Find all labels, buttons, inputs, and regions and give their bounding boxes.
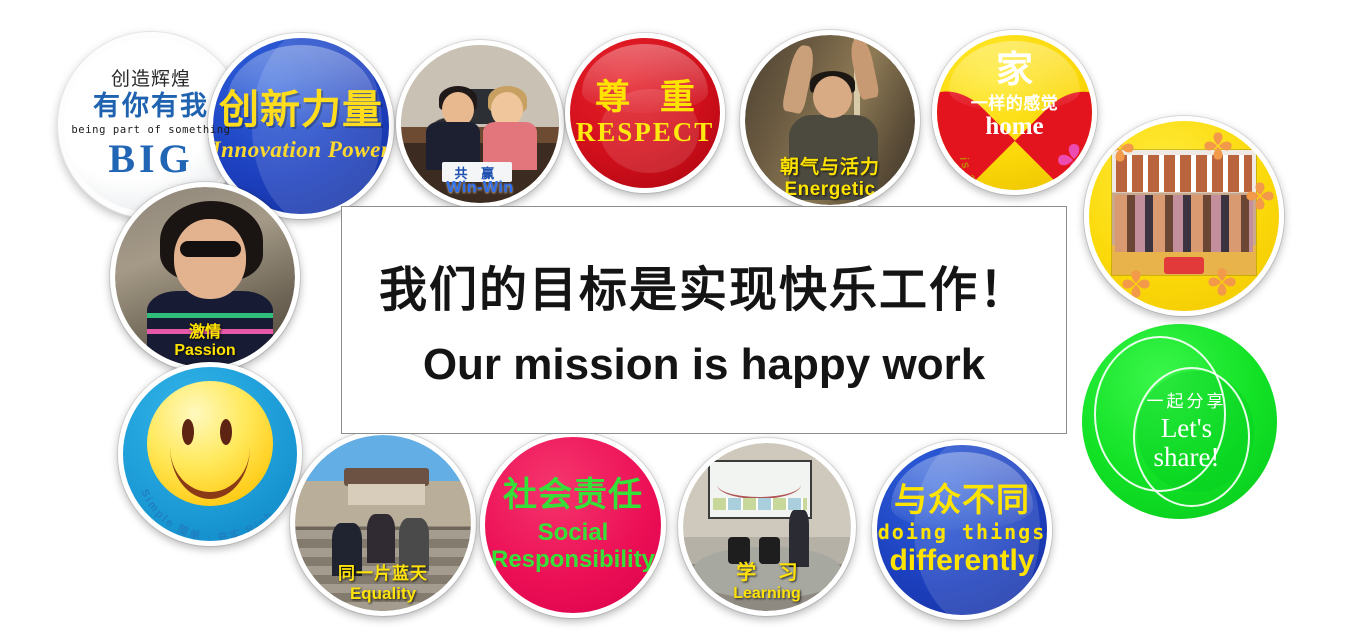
badge-respect-chinese: 尊 重 (585, 79, 705, 117)
team-photo (1112, 150, 1256, 275)
badge-big-line1: 创造辉煌 (111, 70, 191, 91)
svg-text:is an emotion: is an emotion (957, 155, 1041, 188)
badge-learning[interactable]: 学 习 Learning (678, 438, 856, 616)
badge-share-english-1: Let's (1161, 413, 1212, 444)
badge-respect[interactable]: 尊 重 RESPECT (565, 33, 725, 193)
badge-energetic[interactable]: 朝气与活力 Energetic (740, 30, 920, 210)
badge-big-line4: BIG (108, 137, 193, 180)
badge-differently-english-1: doing things (878, 522, 1047, 544)
badge-home-arc-text: is an emotion (957, 155, 1041, 188)
badge-equality-english: Equality (350, 584, 416, 604)
mission-chinese: 我们的目标是实现快乐工作！ (379, 250, 1029, 320)
mission-english: Our mission is happy work (423, 340, 985, 390)
flower-icon (1103, 131, 1137, 165)
svg-text:Simple 简单 · 充实 Rich: Simple 简单 · 充实 Rich (138, 487, 277, 541)
flower-icon (1205, 265, 1239, 299)
badge-smile-arc-text: Simple 简单 · 充实 Rich (138, 487, 277, 541)
flower-icon (1119, 267, 1153, 301)
badge-social-chinese: 社会责任 (503, 477, 643, 514)
flower-icon (1243, 179, 1277, 213)
flower-icon (1054, 140, 1094, 180)
badge-simple-rich-smiley[interactable]: Simple 简单 · 充实 Rich (118, 362, 302, 546)
badge-innovation-english: Innovation Power (212, 138, 391, 163)
badge-passion[interactable]: 激情 Passion (110, 182, 300, 372)
badge-learning-chinese: 学 习 (728, 556, 806, 585)
badge-respect-english: RESPECT (576, 118, 715, 147)
badge-smile-arc: Simple 简单 · 充实 Rich (123, 471, 302, 541)
badge-big-line2: 有你有我 (93, 92, 209, 121)
badge-passion-chinese: 激情 (189, 318, 221, 342)
badge-social-responsibility[interactable]: 社会责任 Social Responsibility (480, 432, 666, 618)
badge-energetic-chinese: 朝气与活力 (780, 152, 880, 179)
badge-passion-english: Passion (174, 342, 235, 360)
badge-equality[interactable]: 同一片蓝天 Equality (290, 430, 476, 616)
badge-big-line3: being part of something (71, 125, 230, 136)
values-collage-canvas: 创造辉煌 有你有我 being part of something BIG 创新… (0, 0, 1366, 635)
badge-share-english-2: share! (1154, 442, 1220, 473)
badge-learning-english: Learning (733, 585, 801, 603)
badge-share-chinese: 一起分享 (1147, 387, 1227, 412)
badge-home-is-an-emotion[interactable]: 家 一样的感觉 home is an emotion (932, 30, 1097, 195)
flower-icon (1201, 129, 1235, 163)
mission-statement-panel: 我们的目标是实现快乐工作！ Our mission is happy work (341, 206, 1067, 434)
badge-differently-english-2: differently (889, 545, 1034, 577)
badge-energetic-english: Energetic (784, 179, 875, 201)
badge-home-char: 家 (996, 51, 1033, 88)
badge-lets-share[interactable]: 一起分享 Let's share! (1082, 324, 1277, 519)
badge-winwin-english: Win-Win (401, 179, 559, 197)
badge-social-english-2: Responsibility (491, 547, 655, 573)
badge-doing-things-differently[interactable]: 与众不同 doing things differently (872, 440, 1052, 620)
badge-home-chinese: 一样的感觉 (971, 89, 1059, 114)
badge-team-photo[interactable] (1084, 116, 1284, 316)
badge-innovation-chinese: 创新力量 (219, 89, 383, 132)
badge-differently-chinese: 与众不同 (894, 482, 1030, 518)
badge-social-english-1: Social (538, 520, 609, 546)
badge-equality-chinese: 同一片蓝天 (338, 559, 428, 584)
badge-win-win[interactable]: 共 赢 Win-Win (396, 40, 564, 208)
